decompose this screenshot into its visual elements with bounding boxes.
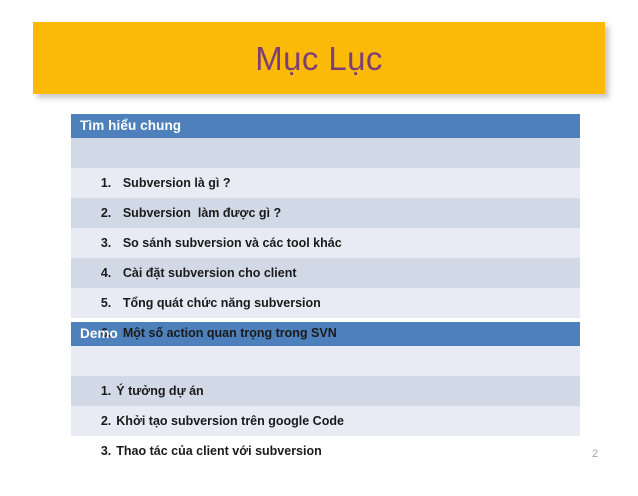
list-item-label: Ý tưởng dự án — [116, 384, 203, 398]
list-item-number: 2. — [101, 406, 116, 436]
list-item-number: 4. — [101, 258, 123, 288]
list-item-label: Subversion làm được gì ? — [123, 206, 281, 220]
list-item-label: Khởi tạo subversion trên google Code — [116, 414, 344, 428]
section-header-tim-hieu-chung: Tìm hiểu chung — [71, 114, 580, 138]
table-of-contents: Tìm hiểu chung 1.Subversion là gì ? 2.Su… — [71, 114, 580, 436]
list-item-label: Một số action quan trọng trong SVN — [123, 326, 337, 340]
page-title: Mục Lục — [255, 42, 383, 75]
list-item[interactable]: 1.Subversion là gì ? — [71, 138, 580, 168]
page-number: 2 — [592, 448, 598, 460]
list-item-label: Thao tác của client với subversion — [116, 444, 321, 458]
list-item[interactable]: 1.Ý tưởng dự án — [71, 346, 580, 376]
list-item-number: 3. — [101, 436, 116, 466]
list-item-number: 3. — [101, 228, 123, 258]
list-item-label: So sánh subversion và các tool khác — [123, 236, 342, 250]
list-item-label: Cài đặt subversion cho client — [123, 266, 297, 280]
list-item-number: 5. — [101, 288, 123, 318]
list-item-number: 2. — [101, 198, 123, 228]
list-item-number: 1. — [101, 168, 123, 198]
slide-canvas: Mục Lục Tìm hiểu chung 1.Subversion là g… — [0, 0, 638, 479]
title-banner: Mục Lục — [33, 22, 605, 94]
list-item-label: Subversion là gì ? — [123, 176, 231, 190]
list-item-number: 1. — [101, 376, 116, 406]
list-item-label: Tổng quát chức năng subversion — [123, 296, 321, 310]
